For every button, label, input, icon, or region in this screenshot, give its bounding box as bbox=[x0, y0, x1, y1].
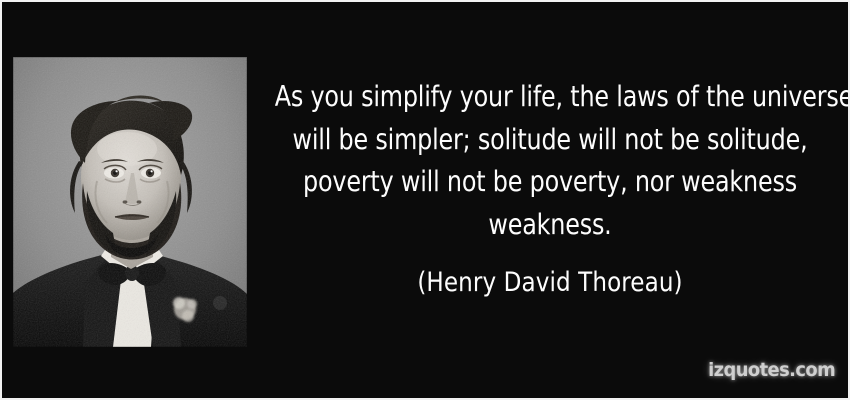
quote-attribution: (Henry David Thoreau) bbox=[269, 266, 831, 300]
quote-line: will be simpler; solitude will not be so… bbox=[275, 119, 826, 162]
quote-text: As you simplify your life, the laws of t… bbox=[254, 76, 846, 246]
quote-line: weakness. bbox=[275, 204, 826, 247]
quote-line: poverty will not be poverty, nor weaknes… bbox=[275, 161, 826, 204]
quote-card: As you simplify your life, the laws of t… bbox=[0, 0, 850, 400]
quote-line: As you simplify your life, the laws of t… bbox=[275, 76, 826, 119]
site-watermark: izquotes.com bbox=[708, 359, 835, 381]
author-portrait bbox=[13, 57, 247, 347]
portrait-illustration bbox=[13, 57, 247, 347]
